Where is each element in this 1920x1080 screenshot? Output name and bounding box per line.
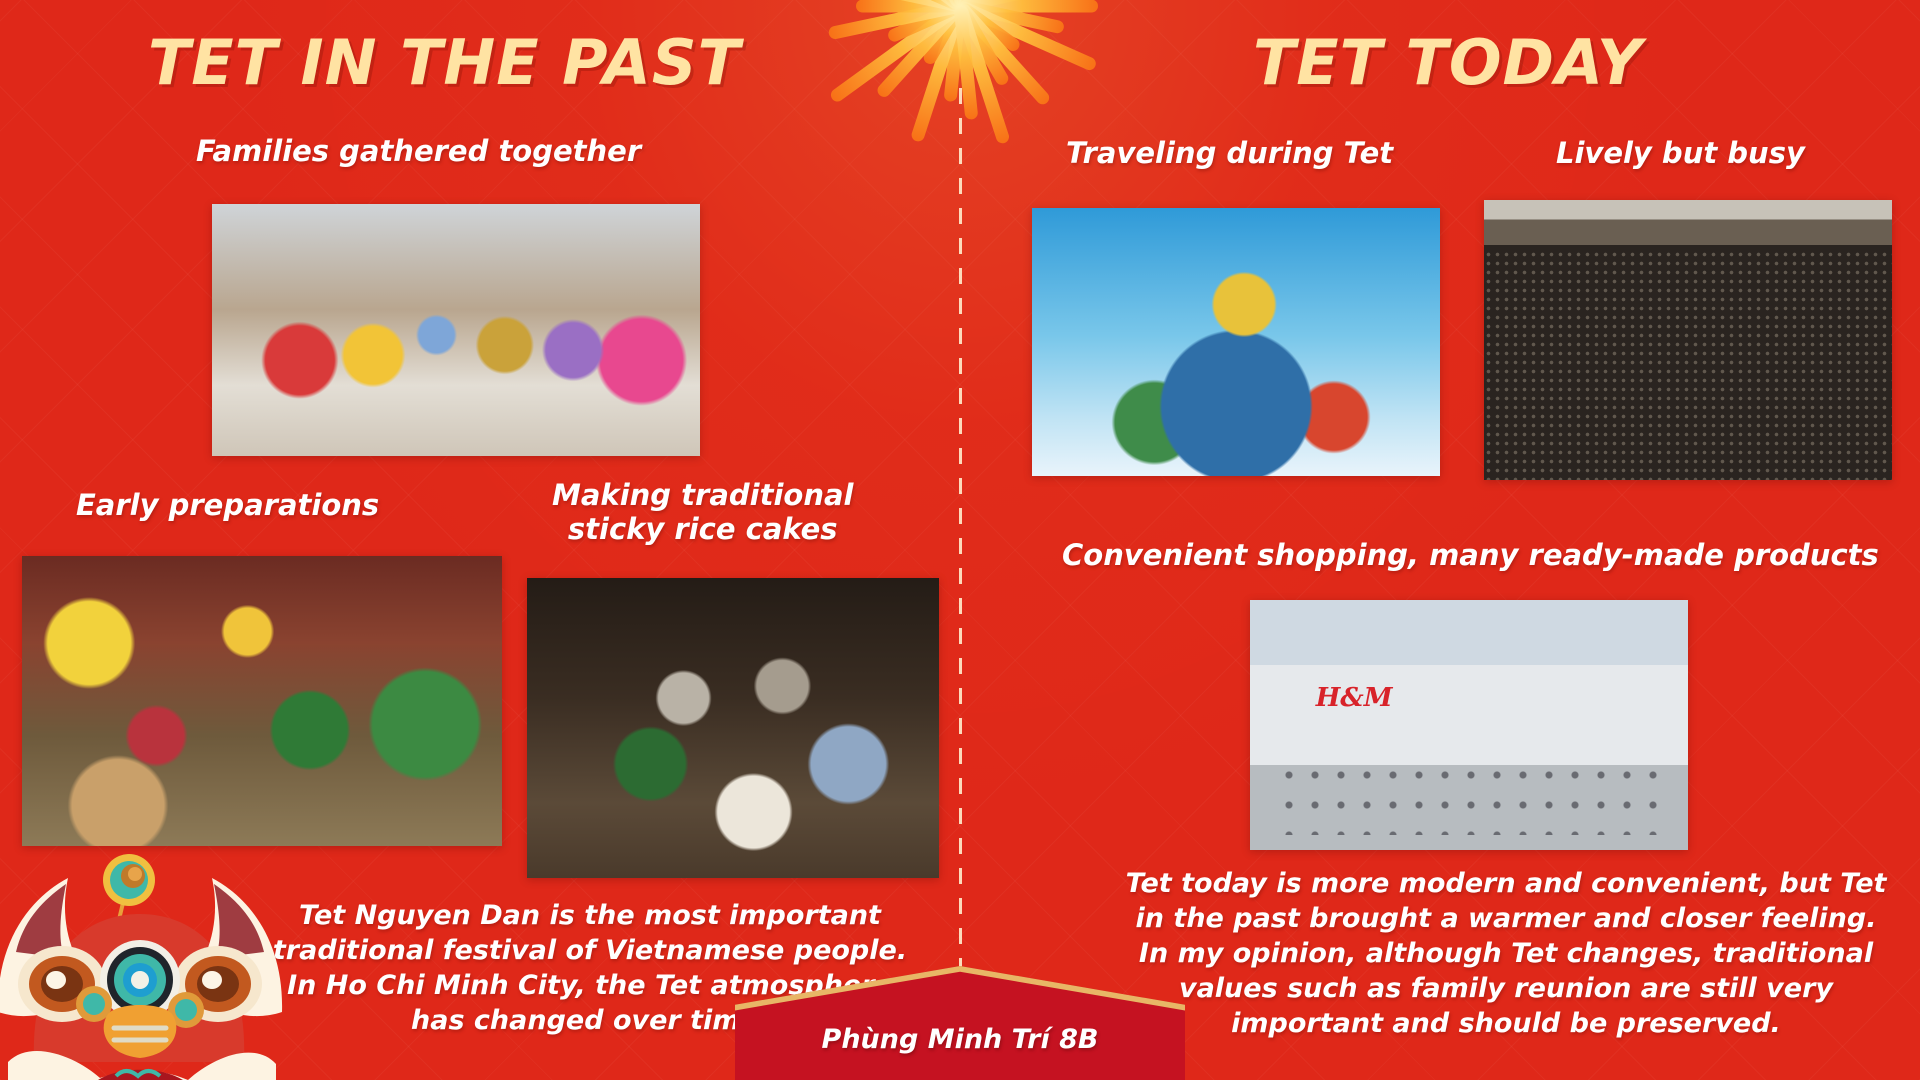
photo-shopping-mall-image <box>1250 600 1688 850</box>
caption-lively-but-busy: Lively but busy <box>1556 136 1805 170</box>
firework-ray <box>955 2 1052 107</box>
firework-ray <box>960 0 1098 13</box>
photo-family-reunion-meal <box>212 204 700 456</box>
firework-ray <box>812 0 961 12</box>
firework-ray <box>881 0 965 9</box>
photo-early-preparations <box>22 556 502 846</box>
firework-ray <box>954 3 1010 87</box>
firework-ray <box>910 4 966 143</box>
photo-crowded-street-night-image <box>1484 200 1892 480</box>
firework-core <box>875 0 1045 91</box>
firework-ray <box>956 1 1022 54</box>
caption-traveling-during-tet: Traveling during Tet <box>1066 136 1393 170</box>
firework-ray <box>921 3 965 67</box>
caption-families-gathered: Families gathered together <box>196 134 641 168</box>
firework-ray <box>886 0 963 44</box>
photo-family-reunion-meal-image <box>212 204 700 456</box>
photo-crowded-street-night <box>1484 200 1892 480</box>
caption-sticky-rice-cakes: Making traditional sticky rice cakes <box>552 478 853 546</box>
firework-ray <box>956 0 1064 11</box>
firework-ray <box>954 4 1011 145</box>
firework-ray <box>954 5 979 120</box>
firework-ray <box>893 0 962 12</box>
firework-ray <box>959 0 1065 34</box>
firework-ray <box>944 5 967 102</box>
firework-ray <box>957 0 1097 72</box>
firework-ray <box>954 0 981 7</box>
page-title-today: TET TODAY <box>1253 26 1643 99</box>
firework-ray <box>957 0 1108 12</box>
firework-ray <box>954 0 997 8</box>
firework-ray <box>896 0 965 10</box>
paragraph-tet-today: Tet today is more modern and convenient,… <box>1096 866 1916 1041</box>
firework-ray <box>946 0 967 7</box>
photo-traveling-woman-globe <box>1032 208 1440 476</box>
firework-ray <box>875 2 965 100</box>
photo-early-preparations-image <box>22 556 502 846</box>
firework-ray <box>955 0 1020 10</box>
caption-early-preparations: Early preparations <box>76 488 379 522</box>
firework-ray <box>959 0 1028 12</box>
photo-traveling-woman-globe-image <box>1032 208 1440 476</box>
tet-comparison-poster: TET IN THE PAST Families gathered togeth… <box>0 0 1920 1080</box>
photo-making-banh-chung <box>527 578 939 878</box>
firework-ray <box>856 0 960 13</box>
hm-store-logo: H&M <box>1316 683 1393 713</box>
firework-ray <box>919 0 966 8</box>
caption-convenient-shopping: Convenient shopping, many ready-made pro… <box>1062 538 1879 572</box>
firework-ray <box>954 0 1042 9</box>
firework-ray <box>828 1 963 104</box>
firework-ray <box>828 0 962 40</box>
photo-making-banh-chung-image <box>527 578 939 878</box>
lion-dance-head-icon <box>0 832 290 1080</box>
photo-shopping-mall: H&M <box>1250 600 1688 850</box>
page-title-past: TET IN THE PAST <box>148 26 741 99</box>
center-divider <box>959 88 962 1080</box>
firework-ray <box>853 0 964 11</box>
author-name: Phùng Minh Trí 8B <box>735 1024 1185 1055</box>
